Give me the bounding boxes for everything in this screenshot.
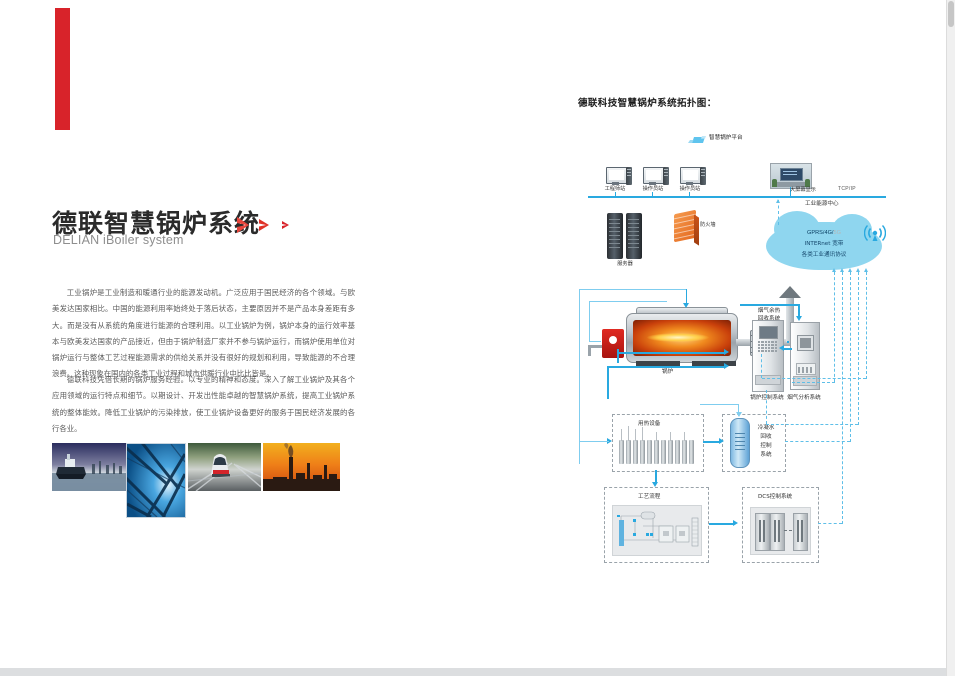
burner-signal-arrow — [724, 349, 729, 355]
arrow-decoration — [235, 213, 305, 237]
burner-icon — [602, 329, 624, 358]
dash-flue-arrow — [864, 268, 868, 272]
process-to-dcs-h — [709, 523, 735, 525]
dcs-racks — [750, 507, 811, 555]
dash-condensate-up — [850, 272, 851, 442]
secondary-supply-v — [589, 301, 590, 341]
supply-to-heat-h — [579, 441, 609, 442]
cloud-uplink-arrow — [776, 199, 780, 203]
dash-control-h — [766, 424, 858, 425]
secondary-supply-top — [589, 301, 667, 302]
process-flow-diagram — [612, 505, 702, 556]
intro-paragraph-1: 工业锅炉是工业制造和暖通行业的能源发动机。广泛应用于国民经济的各个领域。与欧美发… — [52, 285, 355, 383]
condensate-feed-h — [700, 404, 739, 405]
condensate-tank-icon — [730, 418, 750, 468]
page-scrollbar[interactable] — [946, 0, 955, 676]
gas-to-control-arrow — [779, 345, 784, 351]
glass-building-photo — [126, 443, 186, 518]
diagram-title: 德联科技智慧锅炉系统拓扑图： — [578, 95, 717, 109]
dash-dcs-up — [842, 272, 843, 524]
flue-analysis-cabinet-icon — [790, 322, 820, 390]
workstation-icon-operator-2 — [680, 167, 706, 186]
wireless-signal-icon — [864, 222, 886, 242]
process-flow-label: 工艺流程 — [638, 492, 660, 500]
dash-condensate-arrow — [848, 268, 852, 272]
supply-line-left — [579, 289, 580, 464]
scrollbar-thumb[interactable] — [948, 1, 954, 27]
cloud-uplink-dashed — [778, 200, 779, 225]
workstation-icon-engineer — [606, 167, 632, 186]
page-subtitle: DELIAN iBoiler system — [53, 233, 184, 247]
dash-dcs-arrow — [840, 268, 844, 272]
supply-line-top — [579, 289, 687, 290]
heat-to-process-arrow — [652, 482, 658, 487]
return-line-arrow — [724, 363, 729, 369]
workstation-label-0: 工程师站 — [598, 185, 632, 192]
dash-control-up — [858, 272, 859, 425]
boiler-feed-arrow — [683, 303, 689, 308]
spacer-y — [784, 339, 785, 340]
stack-signal-h — [740, 304, 800, 306]
platform-label: 智慧锅炉平台 — [709, 133, 743, 141]
boiler-control-cabinet-icon — [752, 320, 784, 392]
condensate-line-3: 控制 — [752, 442, 780, 451]
document-page: 德联智慧锅炉系统 DELIAN iBoiler system 工业锅炉是工业制造… — [0, 0, 947, 668]
burner-pipe-vertical — [588, 345, 591, 356]
dash-condensate-h — [785, 441, 850, 442]
burner-signal-h — [617, 352, 725, 354]
dash-extra-h — [792, 382, 835, 383]
heat-equipment-label: 用热设备 — [638, 419, 660, 427]
flue-dashed-down — [761, 354, 762, 378]
heat-to-condensate-arrow — [719, 438, 724, 444]
condensate-label: 冷凝水 回收 控制 系统 — [752, 424, 780, 460]
dash-control-arrow — [856, 268, 860, 272]
workstation-label-1: 操作员站 — [636, 185, 670, 192]
workstation-label-2: 操作员站 — [673, 185, 707, 192]
boiler-label: 锅炉 — [662, 367, 673, 375]
spacer-w — [784, 342, 785, 343]
condensate-line-1: 冷凝水 — [752, 424, 780, 433]
server-label: 服务器 — [608, 260, 642, 267]
dash-extra-arrow — [832, 268, 836, 272]
cloud-network-text: GPRS/4G/5G INTERnet 宽带 各类工业通讯协议 — [770, 228, 878, 261]
platform-icon — [688, 132, 706, 141]
intro-paragraph-2: 德联科技凭借长期的锅炉服务经验。以专业的精神和态度。深入了解工业锅炉及其各个应用… — [52, 372, 355, 437]
flue-recovery-line-1: 烟气余热 — [748, 307, 790, 315]
condensate-feed-arrow — [736, 412, 742, 417]
firewall-side — [694, 214, 699, 245]
stack-signal-arrow — [796, 316, 802, 321]
energy-center-label: 工业能源中心 — [805, 199, 839, 207]
red-accent-bar — [55, 8, 70, 130]
cloud-line1b: 5G — [833, 230, 840, 236]
dash-control-v — [766, 390, 767, 424]
firewall-icon — [674, 210, 696, 243]
cloud-line3: 各类工业通讯协议 — [770, 250, 878, 261]
cloud-line1a: GPRS/4G/ — [807, 230, 833, 236]
cloud-line2: INTERnet 宽带 — [770, 239, 878, 250]
secondary-supply-to-burner — [589, 341, 601, 342]
spacer-i — [787, 341, 788, 342]
high-speed-train-photo — [188, 443, 261, 491]
stack-exhaust-arrow — [779, 286, 801, 298]
bus-protocol-label: TCP/IP — [838, 186, 856, 192]
flue-analysis-label: 烟气分析系统 — [782, 393, 826, 401]
dcs-label: DCS控制系统 — [758, 492, 792, 500]
industrial-bus-line — [588, 196, 886, 198]
firewall-label: 防火墙 — [700, 221, 716, 228]
return-line-h — [607, 366, 725, 368]
workstation-icon-operator-1 — [643, 167, 669, 186]
dash-dcs-h — [818, 523, 842, 524]
condensate-line-4: 系统 — [752, 451, 780, 460]
boiler-icon — [626, 313, 738, 363]
ship-port-photo — [52, 443, 127, 491]
return-line-v — [607, 367, 609, 399]
dash-flue-up — [866, 272, 867, 379]
gas-to-control-h — [784, 348, 792, 350]
condensate-line-2: 回收 — [752, 433, 780, 442]
dash-extra-up — [834, 272, 835, 382]
server-icon — [607, 213, 643, 259]
process-to-dcs-arrow — [733, 520, 738, 526]
big-screen-label: 大屏幕显示 — [790, 186, 830, 193]
power-plant-photo — [263, 443, 340, 491]
